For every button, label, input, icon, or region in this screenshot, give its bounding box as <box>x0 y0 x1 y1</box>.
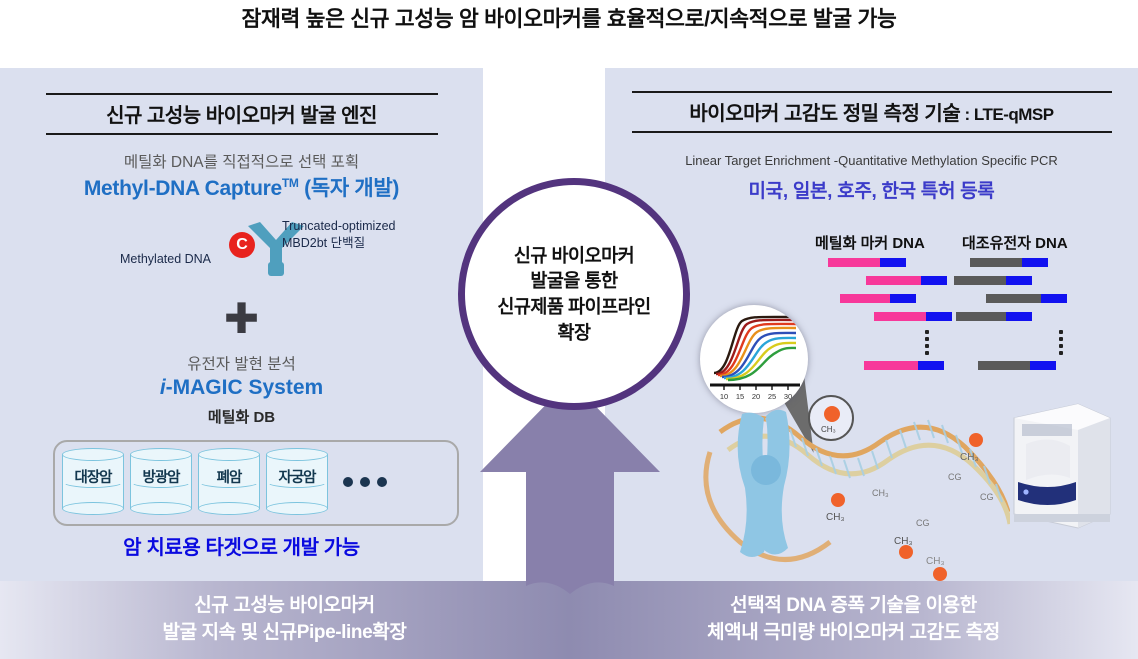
marker-segment <box>866 276 921 285</box>
center-line-3: 신규제품 파이프라인 <box>497 296 650 317</box>
qpcr-instrument-icon <box>1000 396 1120 546</box>
control-segment <box>986 294 1041 303</box>
database-label: 폐암 <box>198 466 260 487</box>
right-panel-header: 바이오마커 고감도 정밀 측정 기술 : LTE-qMSP <box>605 91 1138 133</box>
ellipsis-dot <box>360 477 370 487</box>
dna-bar-row <box>828 361 968 370</box>
control-segment <box>956 312 1006 321</box>
header-rule-bottom <box>46 133 438 135</box>
dna-bar-row <box>970 312 1120 321</box>
control-segment <box>970 258 1022 267</box>
left-banner-line-2: 발굴 지속 및 신규Pipe-line확장 <box>163 622 407 643</box>
svg-text:CG: CG <box>948 472 962 482</box>
ellipsis-dot <box>1059 337 1063 341</box>
methylation-db-label: 메틸화 DB <box>0 406 483 427</box>
dna-bar-row <box>970 258 1120 267</box>
probe-segment <box>1030 361 1056 370</box>
right-banner-line-2: 체액내 극미량 바이오마커 고감도 측정 <box>707 622 1000 643</box>
list-item[interactable]: 방광암 <box>130 448 192 516</box>
ellipsis-dot <box>377 477 387 487</box>
marker-segment <box>840 294 890 303</box>
probe-segment <box>1022 258 1048 267</box>
methyl-dot <box>899 545 913 559</box>
marker-segment <box>828 258 880 267</box>
dna-bar-row <box>970 361 1120 370</box>
cylinder-bottom-ellipse <box>198 502 260 515</box>
mdc-korean-suffix: (독자 개발) <box>299 177 400 200</box>
marker-segment <box>874 312 926 321</box>
right-banner-text: 선택적 DNA 증폭 기술을 이용한 체액내 극미량 바이오마커 고감도 측정 <box>707 593 1000 647</box>
probe-segment <box>1006 312 1032 321</box>
left-banner-text: 신규 고성능 바이오마커 발굴 지속 및 신규Pipe-line확장 <box>163 593 407 647</box>
header-rule-top <box>46 93 438 95</box>
cylinder-top-ellipse <box>62 448 124 461</box>
database-list: 대장암 방광암 폐암 자궁암 <box>62 448 387 516</box>
mbd2bt-line1: Truncated-optimized <box>282 219 395 233</box>
svg-text:CH₃: CH₃ <box>960 452 979 463</box>
dna-bar-row <box>828 294 968 303</box>
right-panel-header-label: 바이오마커 고감도 정밀 측정 기술 <box>689 103 960 125</box>
lte-qmsp-label: : LTE-qMSP <box>960 105 1053 124</box>
header-rule-bottom <box>632 131 1112 133</box>
probe-segment <box>921 276 947 285</box>
header-rule-top <box>632 91 1112 93</box>
plus-icon: ✚ <box>0 298 483 340</box>
methyl-dot <box>933 567 947 581</box>
chromosome-dna-illustration: CH₃ CH₃ CH₃ CH₃ CH₃ CG CG CG <box>690 392 1010 582</box>
methylated-dna-label: Methylated DNA <box>120 252 211 266</box>
left-panel-header: 신규 고성능 바이오마커 발굴 엔진 <box>0 93 483 135</box>
marker-dna-bars <box>828 258 968 379</box>
svg-text:CH₃: CH₃ <box>872 488 889 498</box>
database-label: 방광암 <box>130 466 192 487</box>
mbd2bt-protein-label: Truncated-optimized MBD2bt 단백질 <box>282 218 395 252</box>
probe-segment <box>1006 276 1032 285</box>
control-segment <box>954 276 1006 285</box>
vertical-ellipsis-icon <box>1002 330 1120 355</box>
center-line-1: 신규 바이오마커 <box>514 245 634 266</box>
center-concept-circle: 신규 바이오마커 발굴을 통한 신규제품 파이프라인 확장 <box>458 178 690 410</box>
ellipsis-dot <box>343 477 353 487</box>
cylinder-top-ellipse <box>198 448 260 461</box>
chromosome-icon <box>738 410 790 557</box>
methyl-dna-capture-title: Methyl-DNA CaptureTM (독자 개발) <box>0 172 483 202</box>
left-banner-line-1: 신규 고성능 바이오마커 <box>194 595 375 616</box>
dna-bar-row <box>970 276 1120 285</box>
methyl-dot <box>969 433 983 447</box>
ellipsis-dot <box>925 330 929 334</box>
methyl-cytosine-marker: C <box>229 232 255 258</box>
marker-segment <box>864 361 918 370</box>
database-label: 대장암 <box>62 466 124 487</box>
list-item[interactable]: 대장암 <box>62 448 124 516</box>
dna-bar-row <box>828 276 968 285</box>
vertical-ellipsis-icon <box>886 330 968 355</box>
dna-bar-row <box>828 312 968 321</box>
mdc-main-label: Methyl-DNA Capture <box>84 177 282 200</box>
imagic-system-title: i-MAGIC System <box>0 376 483 400</box>
svg-text:CH₃: CH₃ <box>894 536 913 547</box>
probe-segment <box>890 294 916 303</box>
more-databases-ellipsis-icon <box>343 477 387 487</box>
database-label: 자궁암 <box>266 466 328 487</box>
dna-bar-row <box>828 258 968 267</box>
cylinder-top-ellipse <box>130 448 192 461</box>
svg-text:CG: CG <box>980 492 994 502</box>
probe-segment <box>1041 294 1067 303</box>
cylinder-bottom-ellipse <box>62 502 124 515</box>
list-item[interactable]: 폐암 <box>198 448 260 516</box>
svg-text:CH₃: CH₃ <box>826 512 845 523</box>
cylinder-bottom-ellipse <box>130 502 192 515</box>
probe-segment <box>880 258 906 267</box>
methyl-dna-capture-subtitle: 메틸화 DNA를 직접적으로 선택 포획 <box>0 150 483 172</box>
control-dna-bars <box>970 258 1120 379</box>
control-segment <box>978 361 1030 370</box>
cancer-target-development-text: 암 치료용 타겟으로 개발 가능 <box>0 531 483 560</box>
probe-segment <box>918 361 944 370</box>
upward-arrow <box>480 380 660 610</box>
methyl-dot <box>831 493 845 507</box>
cylinder-top-ellipse <box>266 448 328 461</box>
dna-bar-row <box>970 294 1120 303</box>
control-gene-dna-label: 대조유전자 DNA <box>962 232 1068 253</box>
page-title: 잠재력 높은 신규 고성능 암 바이오마커를 효율적으로/지속적으로 발굴 가능 <box>0 2 1138 33</box>
right-banner-line-1: 선택적 DNA 증폭 기술을 이용한 <box>730 595 977 616</box>
center-line-4: 확장 <box>557 322 590 343</box>
svg-text:CG: CG <box>916 518 930 528</box>
lte-qmsp-fullname: Linear Target Enrichment -Quantitative M… <box>605 153 1138 168</box>
list-item[interactable]: 자궁암 <box>266 448 328 516</box>
antibody-capture-figure: Methylated DNA C Truncated-optimized MBD… <box>120 212 420 292</box>
ellipsis-dot <box>1059 351 1063 355</box>
patent-registration-text: 미국, 일본, 호주, 한국 특허 등록 <box>605 176 1138 203</box>
center-circle-text: 신규 바이오마커 발굴을 통한 신규제품 파이프라인 확장 <box>497 243 650 345</box>
ellipsis-dot <box>925 351 929 355</box>
svg-text:CH₃: CH₃ <box>926 556 945 567</box>
imagic-subtitle: 유전자 발현 분석 <box>0 352 483 374</box>
ellipsis-dot <box>925 337 929 341</box>
ellipsis-dot <box>1059 330 1063 334</box>
cylinder-bottom-ellipse <box>266 502 328 515</box>
probe-segment <box>926 312 952 321</box>
mbd2bt-line2: MBD2bt 단백질 <box>282 236 365 250</box>
trademark-symbol: TM <box>282 176 299 190</box>
left-panel-header-label: 신규 고성능 바이오마커 발굴 엔진 <box>106 105 377 127</box>
ellipsis-dot <box>925 344 929 348</box>
ellipsis-dot <box>1059 344 1063 348</box>
methylation-marker-dna-label: 메틸화 마커 DNA <box>815 232 925 253</box>
center-line-2: 발굴을 통한 <box>530 270 617 291</box>
imagic-rest-label: -MAGIC System <box>166 376 324 399</box>
